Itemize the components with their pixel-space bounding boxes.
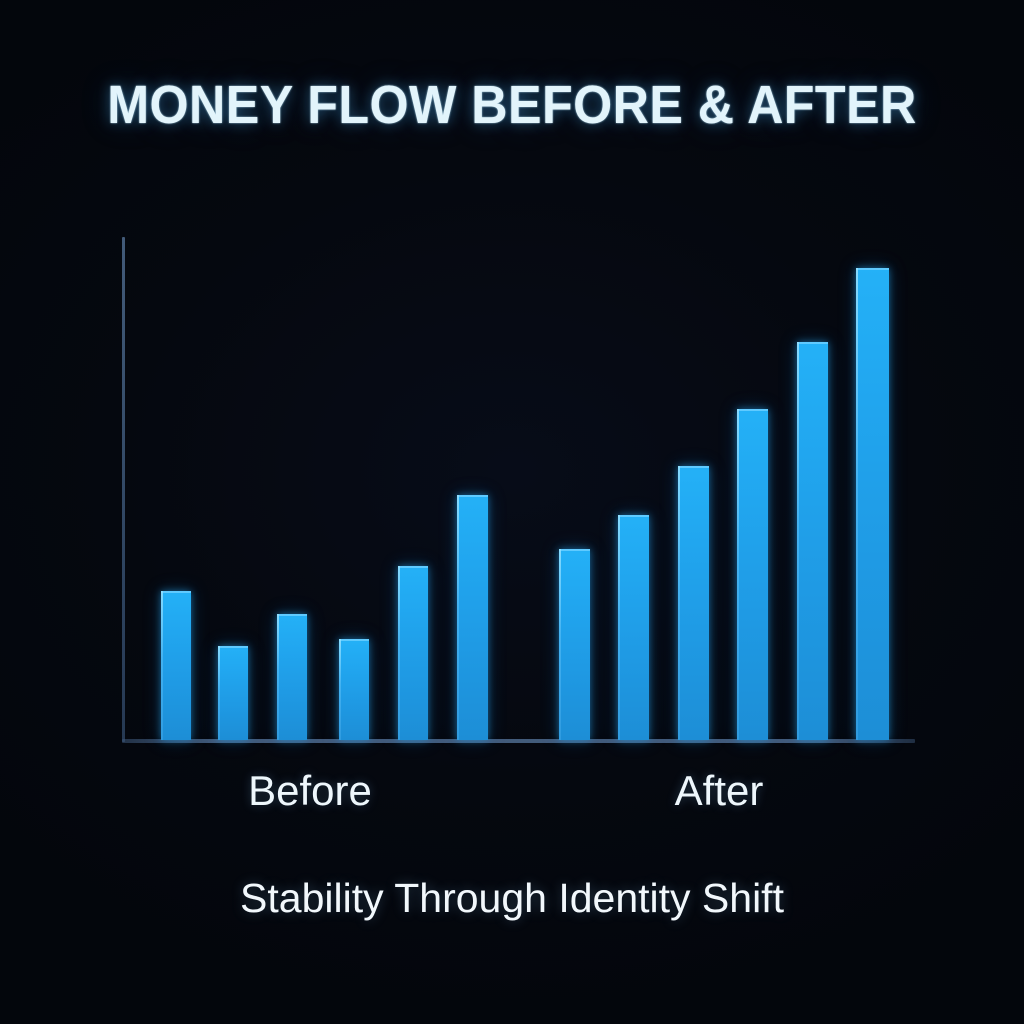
bar-after-3 — [678, 466, 709, 740]
bar-after-5 — [797, 342, 828, 740]
bar-series-container — [0, 0, 1024, 1024]
bar-before-2 — [218, 646, 248, 740]
chart-caption: Stability Through Identity Shift — [0, 872, 1024, 924]
bar-before-6 — [457, 495, 488, 740]
group-label-before: Before — [160, 765, 460, 817]
bar-after-6 — [856, 268, 889, 740]
group-label-after: After — [569, 765, 869, 817]
bar-before-4 — [339, 639, 369, 740]
bar-before-5 — [398, 566, 428, 740]
bar-before-1 — [161, 591, 191, 740]
bar-before-3 — [277, 614, 307, 740]
bar-after-4 — [737, 409, 768, 740]
bar-after-1 — [559, 549, 590, 740]
chart-poster: MONEY FLOW BEFORE & AFTER BeforeAfter St… — [0, 0, 1024, 1024]
bar-after-2 — [618, 515, 649, 740]
